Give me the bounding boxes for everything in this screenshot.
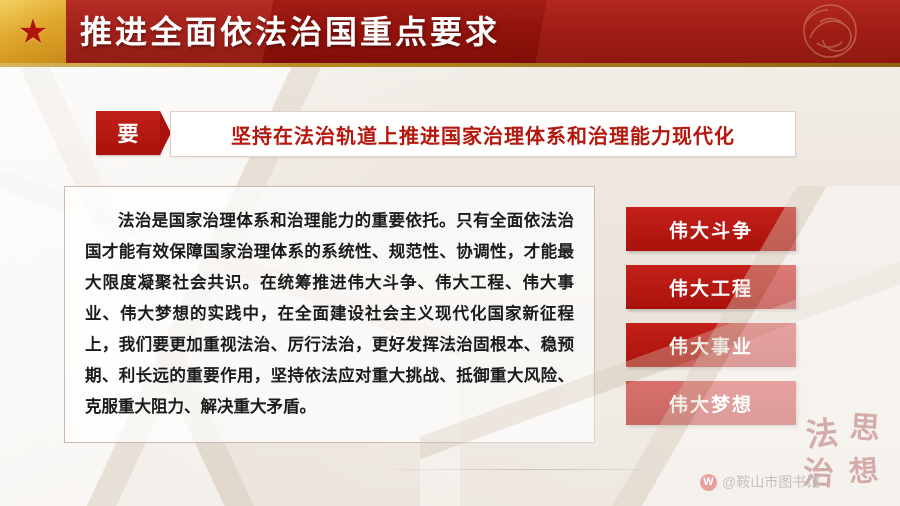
calligraphy-char-zhi: 治 [802, 458, 835, 491]
page-title: 推进全面依法治国重点要求 [80, 7, 500, 53]
key-banner-text: 坚持在法治轨道上推进国家治理体系和治理能力现代化 [170, 111, 796, 157]
slide-page: ★ 推进全面依法治国重点要求 要 坚持在法治轨道上推进国家治理体系和治理能力现代… [0, 0, 900, 506]
header-underline [0, 63, 900, 67]
dragon-ornament-icon [770, 0, 890, 63]
star-icon: ★ [18, 15, 48, 49]
footer-divider [380, 469, 640, 470]
weibo-icon: W [700, 474, 717, 491]
keyword-button-2[interactable]: 伟大工程 [626, 265, 796, 309]
calligraphy-char-xiang: 想 [848, 456, 879, 487]
keyword-button-3[interactable]: 伟大事业 [626, 323, 796, 367]
body-text-panel: 法治是国家治理体系和治理能力的重要依托。只有全面依法治国才能有效保障国家治理体系… [64, 186, 595, 443]
key-banner: 要 坚持在法治轨道上推进国家治理体系和治理能力现代化 [96, 111, 796, 155]
calligraphy-char-fa: 法 [804, 416, 839, 451]
footer-watermark: W @鞍山市图书馆 [700, 472, 820, 492]
keyword-button-4[interactable]: 伟大梦想 [626, 381, 796, 425]
keyword-button-stack: 伟大斗争 伟大工程 伟大事业 伟大梦想 [626, 207, 796, 439]
header-star-badge: ★ [0, 0, 66, 63]
page-header: ★ 推进全面依法治国重点要求 [0, 0, 900, 63]
body-paragraph: 法治是国家治理体系和治理能力的重要依托。只有全面依法治国才能有效保障国家治理体系… [85, 205, 574, 422]
key-banner-tag: 要 [96, 111, 160, 155]
keyword-button-1[interactable]: 伟大斗争 [626, 207, 796, 251]
calligraphy-char-si: 思 [849, 413, 881, 445]
weibo-account: @鞍山市图书馆 [722, 472, 820, 492]
